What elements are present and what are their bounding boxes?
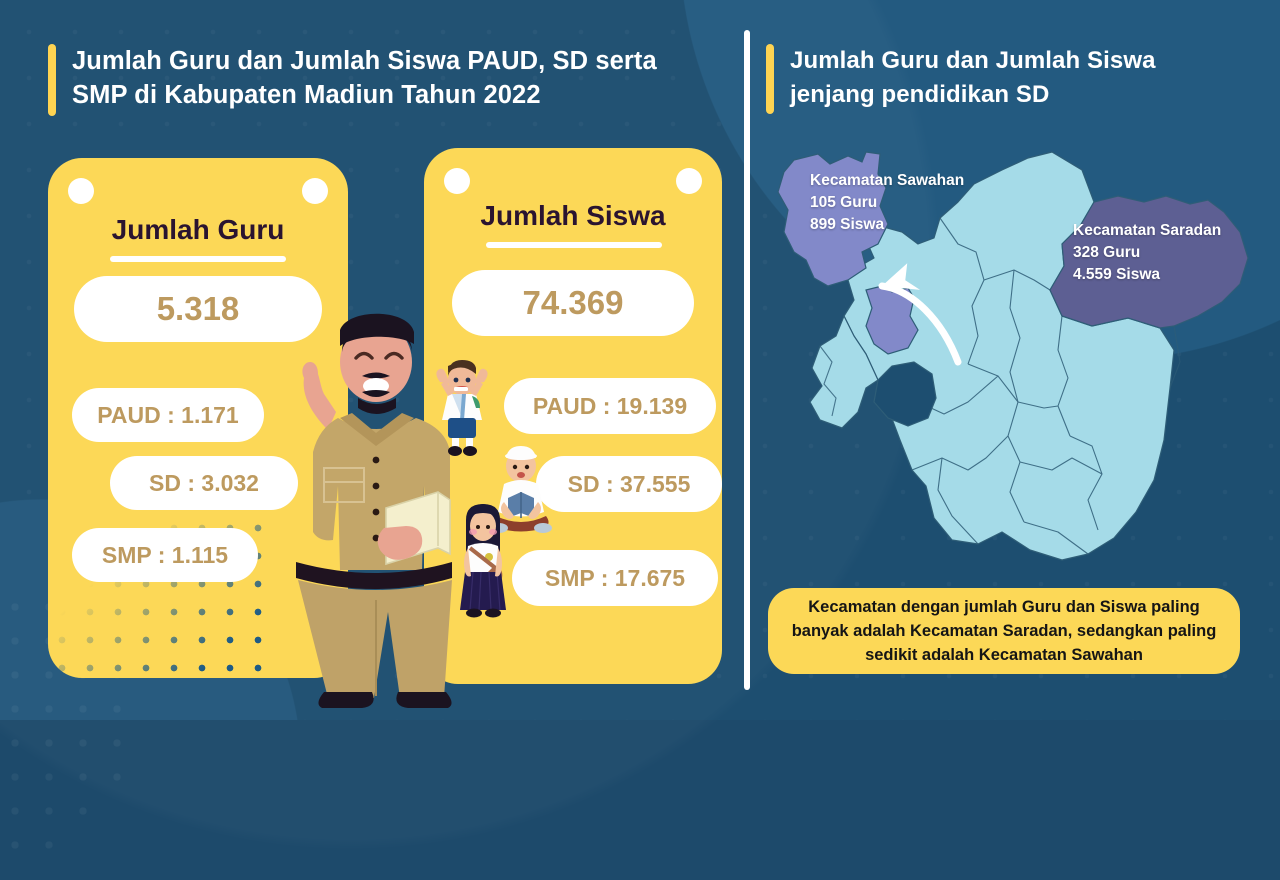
teacher-row-paud: PAUD : 1.171	[72, 388, 264, 442]
sawahan-district-name: Kecamatan Sawahan	[810, 170, 964, 192]
left-panel-title-text: Jumlah Guru dan Jumlah Siswa PAUD, SD se…	[72, 44, 708, 112]
card-hole-dot-right	[302, 178, 328, 204]
summary-note-text: Kecamatan dengan jumlah Guru dan Siswa p…	[784, 595, 1224, 667]
map-label-sawahan: Kecamatan Sawahan 105 Guru 899 Siswa	[810, 170, 964, 236]
card-hole-dot-left	[68, 178, 94, 204]
student-girl-illustration	[448, 500, 518, 620]
card-hole-dot-right	[676, 168, 702, 194]
student-card-underline	[486, 242, 662, 248]
saradan-district-name: Kecamatan Saradan	[1073, 220, 1221, 242]
left-panel-title: Jumlah Guru dan Jumlah Siswa PAUD, SD se…	[48, 44, 708, 116]
right-panel-title: Jumlah Guru dan Jumlah Siswa jenjang pen…	[766, 44, 1236, 114]
summary-note-box: Kecamatan dengan jumlah Guru dan Siswa p…	[768, 588, 1240, 674]
student-row-sd: SD : 37.555	[536, 456, 722, 512]
teacher-row-smp: SMP : 1.115	[72, 528, 258, 582]
student-row-paud: PAUD : 19.139	[504, 378, 716, 434]
student-row-smp: SMP : 17.675	[512, 550, 718, 606]
teacher-card-heading: Jumlah Guru	[48, 214, 348, 246]
title-accent-bar	[48, 44, 56, 116]
saradan-students: 4.559 Siswa	[1073, 264, 1221, 286]
sawahan-students: 899 Siswa	[810, 214, 964, 236]
student-card-heading: Jumlah Siswa	[424, 200, 722, 232]
right-panel-title-text: Jumlah Guru dan Jumlah Siswa jenjang pen…	[790, 44, 1236, 112]
saradan-teachers: 328 Guru	[1073, 242, 1221, 264]
vertical-divider	[744, 30, 750, 690]
student-total-value: 74.369	[452, 270, 694, 336]
sawahan-teachers: 105 Guru	[810, 192, 964, 214]
map-label-saradan: Kecamatan Saradan 328 Guru 4.559 Siswa	[1073, 220, 1221, 286]
teacher-card-underline	[110, 256, 286, 262]
card-hole-dot-left	[444, 168, 470, 194]
title-accent-bar	[766, 44, 774, 114]
